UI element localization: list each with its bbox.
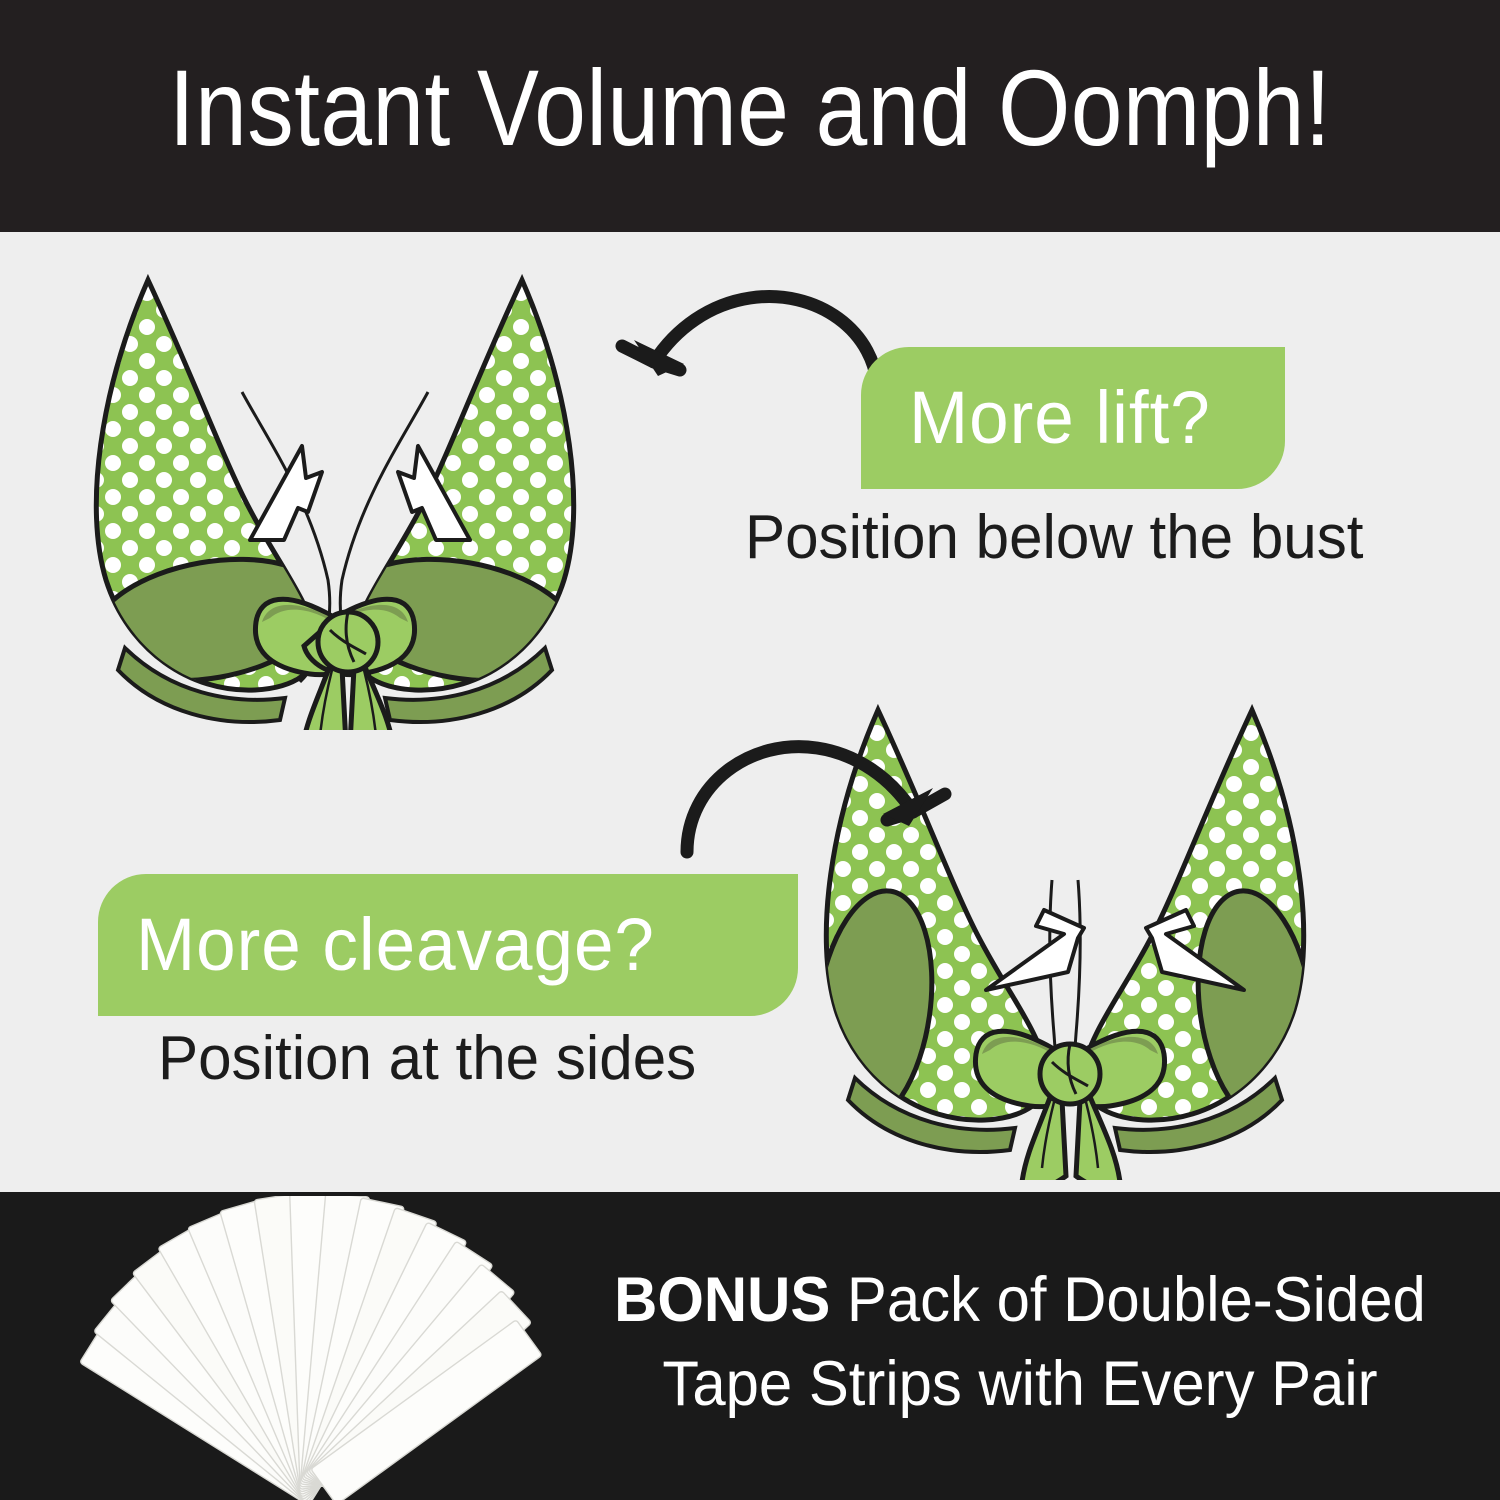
curved-arrow-right-down-icon <box>655 712 955 872</box>
caption-position-below-bust: Position below the bust <box>745 505 1363 571</box>
bonus-line-1: BONUS Pack of Double-Sided <box>593 1258 1448 1342</box>
bonus-offer-text: BONUS Pack of Double-Sided Tape Strips w… <box>593 1258 1448 1426</box>
page-title: Instant Volume and Oomph! <box>105 48 1395 168</box>
badge-more-lift-label: More lift? <box>909 380 1211 456</box>
bonus-line-1-rest: Pack of Double-Sided <box>830 1265 1426 1335</box>
badge-more-lift: More lift? <box>861 347 1285 489</box>
bonus-keyword: BONUS <box>614 1265 830 1335</box>
badge-more-cleavage: More cleavage? <box>98 874 798 1016</box>
tape-strips-illustration <box>40 1196 600 1500</box>
caption-position-at-sides: Position at the sides <box>158 1026 696 1092</box>
header-band: Instant Volume and Oomph! <box>0 0 1500 232</box>
bonus-line-2: Tape Strips with Every Pair <box>593 1342 1448 1426</box>
badge-more-cleavage-label: More cleavage? <box>136 907 655 983</box>
direction-arrow-left-inward <box>986 910 1084 990</box>
product-infographic: Instant Volume and Oomph! <box>0 0 1500 1500</box>
